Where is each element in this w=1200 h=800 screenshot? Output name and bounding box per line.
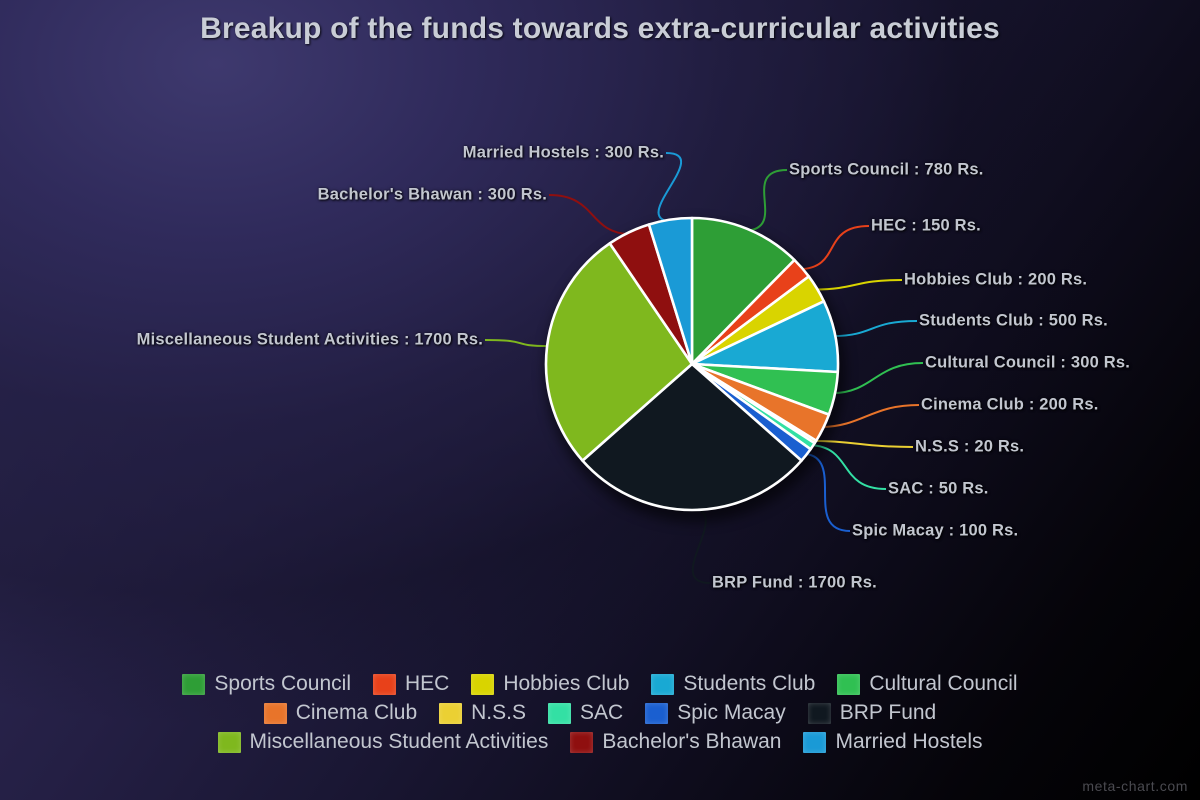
- legend-item[interactable]: Spic Macay: [645, 701, 786, 725]
- legend-item[interactable]: Sports Council: [182, 672, 351, 696]
- legend-row: Miscellaneous Student ActivitiesBachelor…: [207, 730, 994, 754]
- legend-item[interactable]: Bachelor's Bhawan: [570, 730, 781, 754]
- legend-label: Spic Macay: [677, 701, 786, 725]
- legend-swatch: [218, 732, 241, 753]
- legend-item[interactable]: Hobbies Club: [471, 672, 629, 696]
- legend-item[interactable]: SAC: [548, 701, 623, 725]
- legend-label: Married Hostels: [835, 730, 982, 754]
- legend-item[interactable]: Cultural Council: [837, 672, 1017, 696]
- watermark: meta-chart.com: [1082, 778, 1188, 794]
- legend-label: Cinema Club: [296, 701, 417, 725]
- legend-label: Miscellaneous Student Activities: [250, 730, 549, 754]
- legend-label: Bachelor's Bhawan: [602, 730, 781, 754]
- legend-row: Sports CouncilHECHobbies ClubStudents Cl…: [171, 672, 1028, 696]
- legend-swatch: [803, 732, 826, 753]
- legend-swatch: [808, 703, 831, 724]
- callout-label: HEC : 150 Rs.: [871, 217, 981, 236]
- legend-label: N.S.S: [471, 701, 526, 725]
- callout-label: SAC : 50 Rs.: [888, 480, 989, 499]
- legend-item[interactable]: Cinema Club: [264, 701, 417, 725]
- legend-swatch: [264, 703, 287, 724]
- legend-swatch: [645, 703, 668, 724]
- legend-row: Cinema ClubN.S.SSACSpic MacayBRP Fund: [253, 701, 947, 725]
- callout-label: Miscellaneous Student Activities : 1700 …: [137, 331, 483, 350]
- callout-label: BRP Fund : 1700 Rs.: [712, 574, 877, 593]
- legend-label: Cultural Council: [869, 672, 1017, 696]
- callout-label: Cultural Council : 300 Rs.: [925, 354, 1130, 373]
- callout-label: Married Hostels : 300 Rs.: [463, 144, 664, 163]
- callout-label: N.S.S : 20 Rs.: [915, 438, 1024, 457]
- callout-label: Spic Macay : 100 Rs.: [852, 522, 1018, 541]
- legend-item[interactable]: Married Hostels: [803, 730, 982, 754]
- legend-label: SAC: [580, 701, 623, 725]
- chart-canvas: Breakup of the funds towards extra-curri…: [0, 0, 1200, 800]
- legend-item[interactable]: Students Club: [651, 672, 815, 696]
- chart-legend: Sports CouncilHECHobbies ClubStudents Cl…: [0, 672, 1200, 754]
- legend-item[interactable]: BRP Fund: [808, 701, 937, 725]
- legend-swatch: [471, 674, 494, 695]
- legend-label: Sports Council: [214, 672, 351, 696]
- legend-label: Students Club: [683, 672, 815, 696]
- legend-label: Hobbies Club: [503, 672, 629, 696]
- callout-label: Bachelor's Bhawan : 300 Rs.: [318, 186, 547, 205]
- legend-item[interactable]: HEC: [373, 672, 449, 696]
- callout-label: Sports Council : 780 Rs.: [789, 161, 984, 180]
- legend-swatch: [548, 703, 571, 724]
- callout-label: Students Club : 500 Rs.: [919, 312, 1108, 331]
- legend-swatch: [651, 674, 674, 695]
- legend-item[interactable]: N.S.S: [439, 701, 526, 725]
- legend-swatch: [373, 674, 396, 695]
- legend-swatch: [837, 674, 860, 695]
- legend-swatch: [439, 703, 462, 724]
- callout-label: Hobbies Club : 200 Rs.: [904, 271, 1087, 290]
- legend-item[interactable]: Miscellaneous Student Activities: [218, 730, 549, 754]
- legend-label: BRP Fund: [840, 701, 937, 725]
- callout-label: Cinema Club : 200 Rs.: [921, 396, 1099, 415]
- legend-swatch: [182, 674, 205, 695]
- legend-label: HEC: [405, 672, 449, 696]
- legend-swatch: [570, 732, 593, 753]
